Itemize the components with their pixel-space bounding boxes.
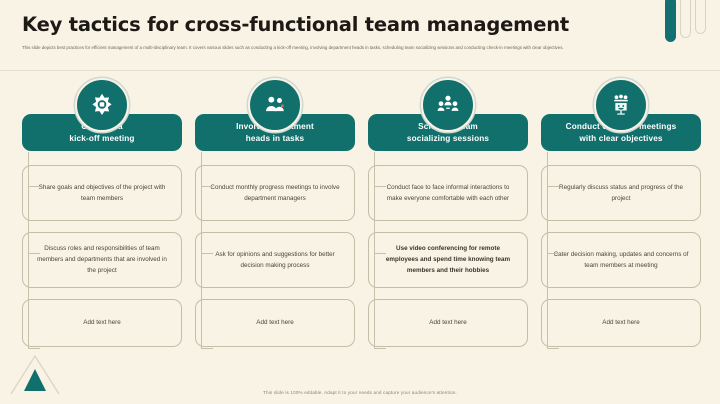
tactic-card[interactable]: Discuss roles and responsibilities of te… [22, 232, 182, 288]
decorative-bar-filled [665, 0, 676, 42]
column-heading-line2: socializing sessions [407, 134, 489, 143]
tactic-card-placeholder[interactable]: Add text here [368, 299, 528, 347]
connector-stub [28, 186, 40, 187]
tactic-column-check-in-meetings: Conduct check-in meetings with clear obj… [541, 78, 701, 370]
decorative-bar-outline-2 [695, 0, 706, 34]
slide-canvas: Key tactics for cross-functional team ma… [0, 0, 720, 404]
connector-stub [201, 186, 213, 187]
connector-rail [201, 152, 202, 348]
connector-stub [547, 348, 559, 349]
tactic-column-kickoff-meeting: Conduct a kick-off meeting Share goals a… [22, 78, 182, 370]
connector-rail [374, 152, 375, 348]
tactic-column-department-heads: Involve department heads in tasks Conduc… [195, 78, 355, 370]
tactic-card[interactable]: Ask for opinions and suggestions for bet… [195, 232, 355, 288]
card-list: Conduct monthly progress meetings to inv… [195, 165, 355, 347]
connector-rail [28, 152, 29, 348]
tactic-card-placeholder[interactable]: Add text here [541, 299, 701, 347]
connector-stub [374, 253, 386, 254]
tactic-card[interactable]: Cater decision making, updates and conce… [541, 232, 701, 288]
rounded-bars-decoration [665, 0, 706, 42]
gear-star-icon [75, 78, 129, 132]
tactic-card[interactable]: Conduct monthly progress meetings to inv… [195, 165, 355, 221]
column-heading-line2: with clear objectives [579, 134, 662, 143]
column-heading-line2: heads in tasks [246, 134, 305, 143]
team-socializing-icon [421, 78, 475, 132]
card-list: Share goals and objectives of the projec… [22, 165, 182, 347]
column-heading-line2: kick-off meeting [69, 134, 134, 143]
check-in-meeting-icon [594, 78, 648, 132]
footer-note: This slide is 100% editable. Adapt it to… [0, 390, 720, 395]
page-title: Key tactics for cross-functional team ma… [22, 13, 569, 36]
tactic-card[interactable]: Use video conferencing for remote employ… [368, 232, 528, 288]
card-list: Conduct face to face informal interactio… [368, 165, 528, 347]
tactic-card[interactable]: Conduct face to face informal interactio… [368, 165, 528, 221]
connector-rail [547, 152, 548, 348]
department-heads-icon [248, 78, 302, 132]
decorative-bar-outline-1 [680, 0, 691, 38]
tactic-card[interactable]: Regularly discuss status and progress of… [541, 165, 701, 221]
connector-stub [547, 186, 559, 187]
connector-stub [547, 253, 559, 254]
connector-stub [374, 348, 386, 349]
connector-stub [28, 253, 40, 254]
tactic-card[interactable]: Share goals and objectives of the projec… [22, 165, 182, 221]
tactic-card-placeholder[interactable]: Add text here [22, 299, 182, 347]
connector-stub [28, 348, 40, 349]
connector-stub [201, 348, 213, 349]
tactics-columns: Conduct a kick-off meeting Share goals a… [22, 78, 698, 370]
tactic-column-socializing-sessions: Schedule team socializing sessions Condu… [368, 78, 528, 370]
connector-stub [374, 186, 386, 187]
card-list: Regularly discuss status and progress of… [541, 165, 701, 347]
header-divider [0, 70, 720, 71]
tactic-card-placeholder[interactable]: Add text here [195, 299, 355, 347]
connector-stub [201, 253, 213, 254]
page-subtitle: This slide depicts best practices for ef… [22, 44, 682, 52]
